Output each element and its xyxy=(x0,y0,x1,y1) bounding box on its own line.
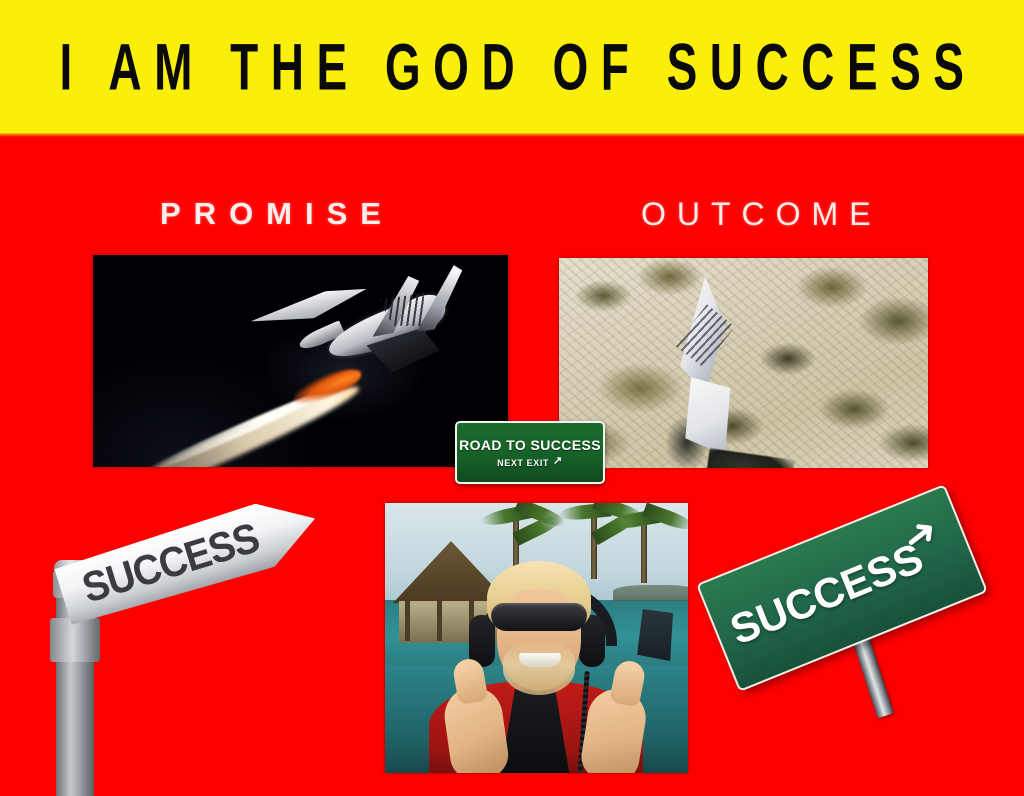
road-sign-sub-text: NEXT EXIT xyxy=(497,458,549,468)
man-thumbs-up-photo xyxy=(385,503,688,773)
slide-canvas: I AM THE GOD OF SUCCESS PROMISE OUTCOME … xyxy=(0,0,1024,796)
road-sign-sub-row: NEXT EXIT ↗ xyxy=(497,457,563,468)
sign-pole-collar-lower-left xyxy=(50,618,100,662)
banner-divider xyxy=(0,133,1024,137)
caption-outcome: OUTCOME xyxy=(641,196,882,233)
road-to-success-sign: ROAD TO SUCCESS NEXT EXIT ↗ xyxy=(455,421,605,484)
header-banner: I AM THE GOD OF SUCCESS xyxy=(0,0,1024,135)
hut-post-1 xyxy=(405,601,410,641)
road-sign-main-text: ROAD TO SUCCESS xyxy=(459,437,601,453)
person-smile xyxy=(519,653,561,667)
success-arrow-sign-right: SUCCESS ➜ xyxy=(700,520,1024,780)
caption-promise: PROMISE xyxy=(160,196,394,232)
desert-texture xyxy=(559,258,928,468)
crash-wreckage-desert-photo xyxy=(559,258,928,468)
sunglasses-icon xyxy=(491,603,587,631)
success-sign-board-right: SUCCESS ➜ xyxy=(696,484,988,692)
distant-island xyxy=(613,585,688,601)
lounge-chair xyxy=(637,609,673,661)
up-right-arrow-icon: ↗ xyxy=(553,456,563,467)
page-title: I AM THE GOD OF SUCCESS xyxy=(47,33,976,100)
spaceplane-rocket-launch-photo xyxy=(93,255,508,467)
success-sign-board-left: SUCCESS xyxy=(53,488,325,628)
success-arrow-sign-left: SUCCESS xyxy=(20,528,340,796)
hut-post-2 xyxy=(437,601,442,641)
person-beard xyxy=(503,643,575,695)
success-label-right: SUCCESS xyxy=(724,534,930,655)
success-label-left: SUCCESS xyxy=(77,515,265,614)
